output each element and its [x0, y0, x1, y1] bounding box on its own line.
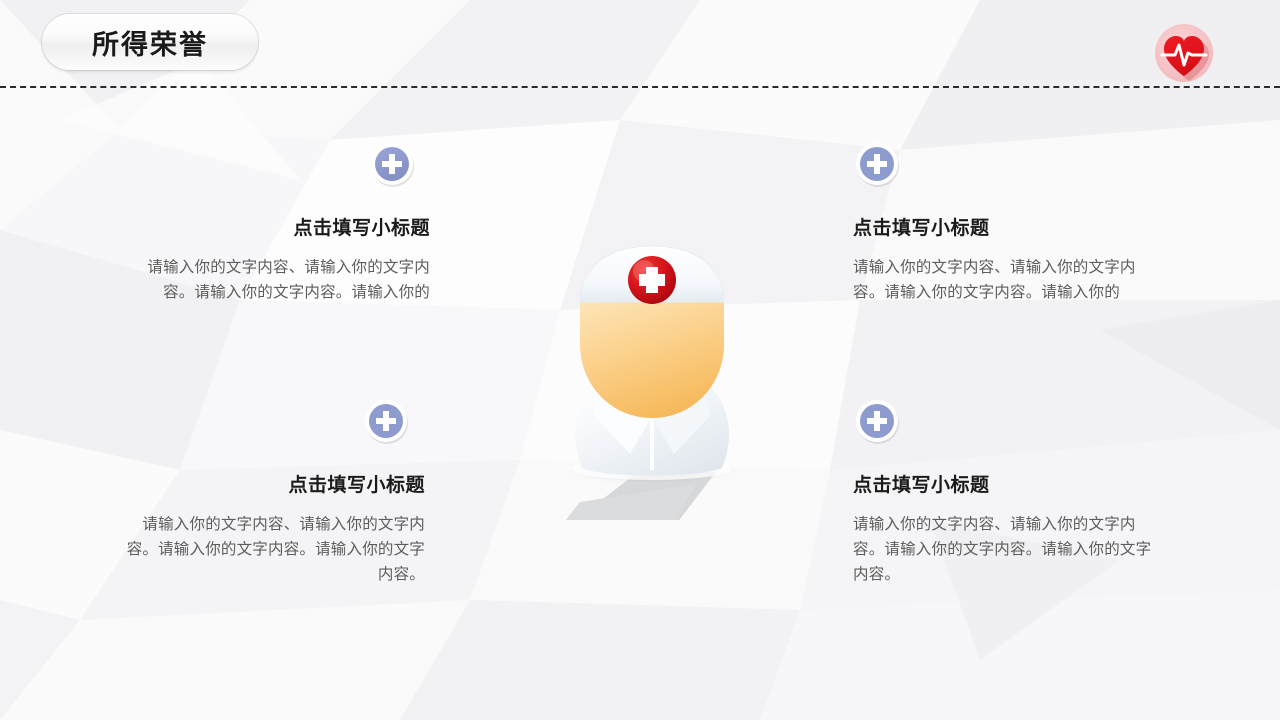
block-body: 请输入你的文字内容、请输入你的文字内容。请输入你的文字内容。请输入你的: [853, 255, 1153, 305]
text-wrapper: 点击填写小标题 请输入你的文字内容、请输入你的文字内容。请输入你的文字内容。请输…: [853, 218, 1153, 305]
plus-circle-icon[interactable]: [853, 140, 901, 188]
plus-circle-icon[interactable]: [853, 397, 901, 445]
block-heading: 点击填写小标题: [130, 218, 430, 241]
block-body: 请输入你的文字内容、请输入你的文字内容。请输入你的文字内容。请输入你的文字内容。: [853, 512, 1153, 587]
text-wrapper: 点击填写小标题 请输入你的文字内容、请输入你的文字内容。请输入你的文字内容。请输…: [130, 218, 430, 305]
plus-circle-icon[interactable]: [368, 140, 416, 188]
text-wrapper: 点击填写小标题 请输入你的文字内容、请输入你的文字内容。请输入你的文字内容。请输…: [125, 475, 425, 587]
block-heading: 点击填写小标题: [853, 475, 1153, 498]
page-title-pill[interactable]: 所得荣誉: [42, 14, 258, 70]
slide-canvas: 所得荣誉: [0, 0, 1280, 720]
plus-circle-icon[interactable]: [362, 397, 410, 445]
text-wrapper: 点击填写小标题 请输入你的文字内容、请输入你的文字内容。请输入你的文字内容。请输…: [853, 475, 1153, 587]
heartbeat-icon: [1144, 13, 1224, 93]
block-body: 请输入你的文字内容、请输入你的文字内容。请输入你的文字内容。请输入你的: [130, 255, 430, 305]
dashed-divider: [0, 86, 1280, 88]
page-title: 所得荣誉: [92, 23, 208, 62]
block-heading: 点击填写小标题: [125, 475, 425, 498]
slide-header: 所得荣誉: [0, 0, 1280, 95]
nurse-avatar-illustration: [520, 240, 780, 510]
block-body: 请输入你的文字内容、请输入你的文字内容。请输入你的文字内容。请输入你的文字内容。: [125, 512, 425, 587]
block-heading: 点击填写小标题: [853, 218, 1153, 241]
